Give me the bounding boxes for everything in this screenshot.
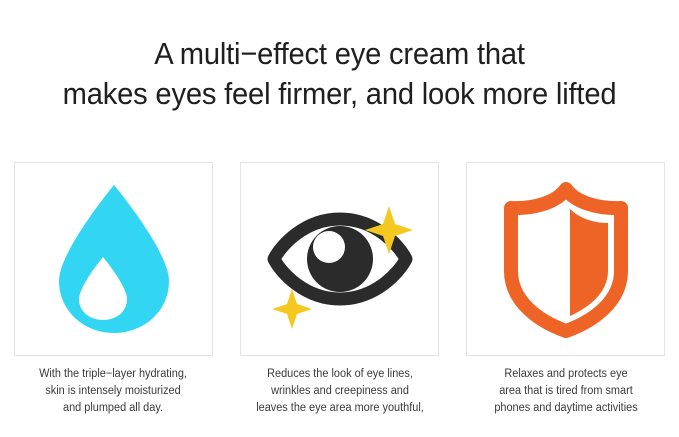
caption-line: and plumped all day.: [13, 400, 213, 417]
benefit-caption-hydration: With the triple−layer hydrating, skin is…: [13, 366, 213, 417]
caption-line: phones and daytime activities: [466, 400, 666, 417]
caption-line: skin is intensely moisturized: [13, 383, 213, 400]
benefit-card-row: [14, 162, 665, 358]
caption-line: wrinkles and creepiness and: [240, 383, 440, 400]
benefit-card-hydration: [14, 162, 213, 356]
caption-line: Relaxes and protects eye: [466, 366, 666, 383]
promo-banner: A multi−effect eye cream that makes eyes…: [0, 0, 679, 437]
headline-line-2: makes eyes feel firmer, and look more li…: [20, 74, 658, 114]
caption-line: With the triple−layer hydrating,: [13, 366, 213, 383]
benefit-caption-wrinkles: Reduces the look of eye lines, wrinkles …: [240, 366, 440, 417]
benefit-caption-row: With the triple−layer hydrating, skin is…: [14, 366, 665, 417]
benefit-card-protection: [466, 162, 665, 356]
caption-line: area that is tired from smart: [466, 383, 666, 400]
water-drop-icon: [39, 179, 189, 339]
eye-sparkle-icon: [265, 179, 415, 339]
caption-line: Reduces the look of eye lines,: [240, 366, 440, 383]
page-title: A multi−effect eye cream that makes eyes…: [20, 34, 658, 114]
shield-icon: [491, 179, 641, 339]
headline-line-1: A multi−effect eye cream that: [20, 34, 658, 74]
caption-line: leaves the eye area more youthful,: [240, 400, 440, 417]
benefit-card-wrinkles: [240, 162, 439, 356]
benefit-caption-protection: Relaxes and protects eye area that is ti…: [466, 366, 666, 417]
